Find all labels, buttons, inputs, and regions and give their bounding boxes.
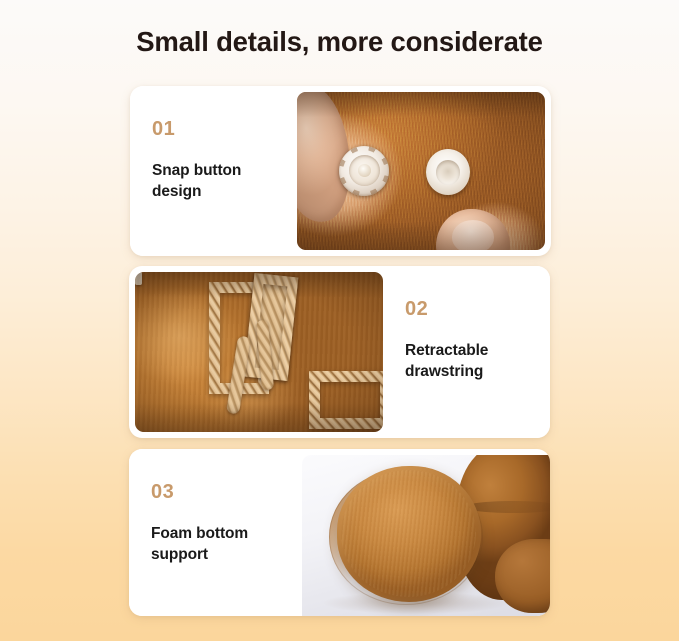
- step-title: Snap button design: [152, 161, 287, 202]
- page-title: Small details, more considerate: [0, 26, 679, 58]
- feature-photo-drawstring: [135, 272, 383, 432]
- feature-text-panel: 02 Retractable drawstring: [383, 266, 550, 438]
- photo-vignette: [135, 272, 383, 432]
- feature-card-drawstring[interactable]: 02 Retractable drawstring: [129, 266, 550, 438]
- step-title: Foam bottom support: [151, 524, 286, 565]
- step-number: 01: [152, 119, 297, 139]
- feature-card-snap-button[interactable]: 01 Snap button design: [130, 86, 551, 256]
- foam-sole-icon: [337, 466, 481, 601]
- photo-vignette: [297, 92, 545, 250]
- feature-card-foam-bottom[interactable]: 03 Foam bottom support: [129, 449, 550, 616]
- feature-text-panel: 01 Snap button design: [130, 86, 297, 256]
- step-number: 02: [405, 299, 550, 319]
- step-title: Retractable drawstring: [405, 341, 540, 382]
- step-number: 03: [151, 482, 296, 502]
- feature-text-panel: 03 Foam bottom support: [129, 449, 296, 616]
- feature-photo-snap-button: [297, 92, 545, 250]
- feature-photo-foam-bottom: [302, 455, 550, 616]
- sole-drop-shadow: [324, 592, 508, 615]
